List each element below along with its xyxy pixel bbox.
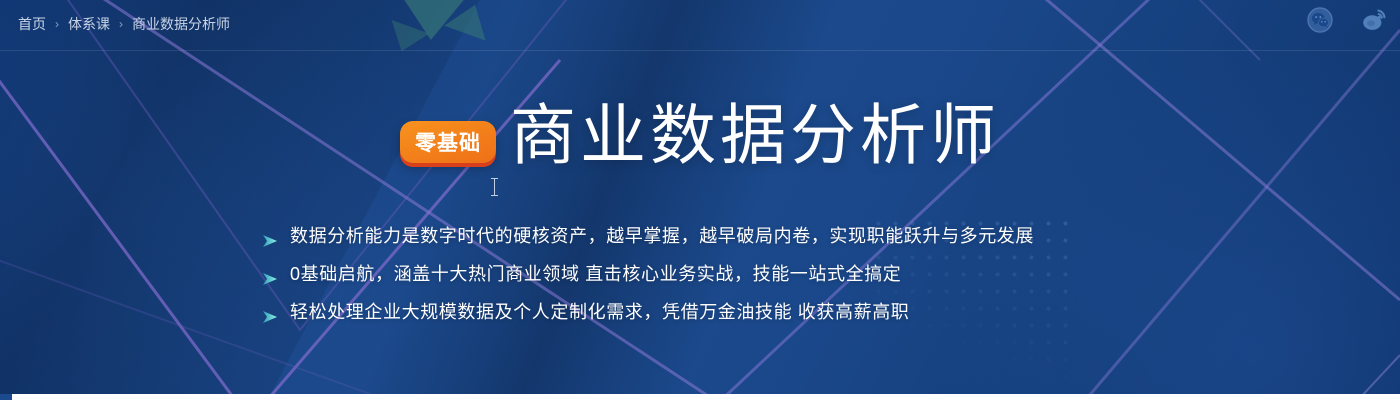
list-item: 数据分析能力是数字时代的硬核资产，越早掌握，越早破局内卷，实现职能跃升与多元发展 xyxy=(262,223,1034,249)
arrow-right-icon xyxy=(262,267,278,281)
page-title: 商业数据分析师 xyxy=(510,96,1000,174)
list-item-label: 数据分析能力是数字时代的硬核资产，越早掌握，越早破局内卷，实现职能跃升与多元发展 xyxy=(290,223,1034,249)
course-hero-banner: 首页 › 体系课 › 商业数据分析师 xyxy=(0,0,1400,400)
list-item-label: 0基础启航，涵盖十大热门商业领域 直击核心业务实战，技能一站式全搞定 xyxy=(290,261,901,287)
list-item-label: 轻松处理企业大规模数据及个人定制化需求，凭借万金油技能 收获高薪高职 xyxy=(290,299,909,325)
text-cursor-artifact xyxy=(494,178,495,196)
hero-bullet-list: 数据分析能力是数字时代的硬核资产，越早掌握，越早破局内卷，实现职能跃升与多元发展… xyxy=(0,223,1400,325)
list-item: 0基础启航，涵盖十大热门商业领域 直击核心业务实战，技能一站式全搞定 xyxy=(262,261,901,287)
list-item: 轻松处理企业大规模数据及个人定制化需求，凭借万金油技能 收获高薪高职 xyxy=(262,299,909,325)
page-bottom-strip xyxy=(0,394,1400,400)
page-bottom-strip-nub xyxy=(0,394,12,400)
arrow-right-icon xyxy=(262,229,278,243)
hero-content: 零基础 商业数据分析师 数据分析能力是数字时代的硬核资产，越早掌握，越早 xyxy=(0,0,1400,400)
arrow-right-icon xyxy=(262,305,278,319)
zero-basis-badge: 零基础 xyxy=(400,121,496,163)
title-row: 零基础 商业数据分析师 xyxy=(0,96,1400,174)
